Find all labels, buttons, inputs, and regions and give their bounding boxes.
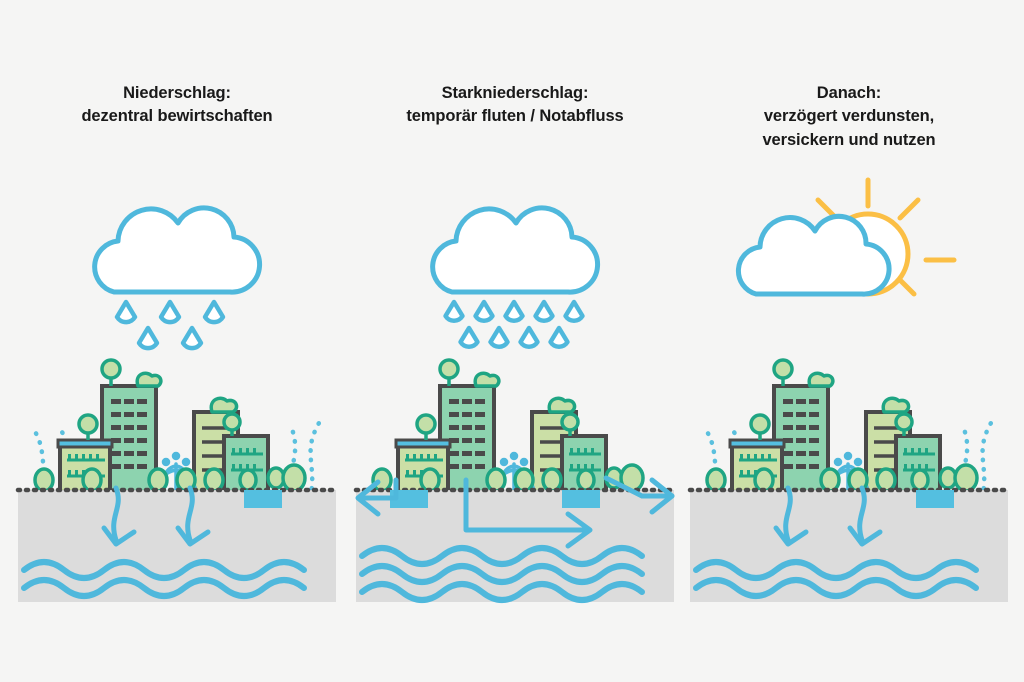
panel-heading: Starkniederschlag: temporär fluten / Not… [356, 82, 674, 129]
raindrop-icon [446, 302, 583, 347]
rain-cloud-icon [95, 208, 260, 292]
weather-illustration-sun-cloud [690, 170, 1008, 350]
subsurface-illustration [18, 486, 336, 602]
rooftop-tree-icon [751, 415, 769, 440]
weather-illustration-heavy-rain [356, 170, 674, 350]
rooftop-tree-icon [440, 360, 499, 386]
rooftop-tree-icon [79, 415, 97, 440]
raindrop-icon [117, 302, 223, 348]
rooftop-tree-icon [774, 360, 833, 386]
panel-niederschlag: Niederschlag: dezentral bewirtschaften [18, 0, 336, 682]
rooftop-tree-icon [417, 415, 435, 440]
weather-illustration-rain [18, 170, 336, 350]
panel-heading-line: Starkniederschlag: [356, 82, 674, 105]
subsurface-illustration [690, 486, 1008, 602]
panel-heading-line: dezentral bewirtschaften [18, 105, 336, 128]
panel-danach: Danach: verzögert verdunsten, versickern… [690, 0, 1008, 682]
cityscape-illustration [18, 352, 336, 500]
infographic-canvas: Niederschlag: dezentral bewirtschaften [0, 0, 1024, 682]
cistern-basin [244, 490, 282, 508]
panel-heading: Danach: verzögert verdunsten, versickern… [690, 82, 1008, 152]
soil-block [18, 490, 336, 602]
panel-heading-line: versickern und nutzen [690, 129, 1008, 152]
cityscape-illustration [690, 352, 1008, 500]
cistern-basin [562, 490, 600, 508]
panel-heading-line: verzögert verdunsten, [690, 105, 1008, 128]
rain-cloud-icon [433, 208, 598, 292]
panel-heading-line: Niederschlag: [18, 82, 336, 105]
panel-heading-line: Danach: [690, 82, 1008, 105]
panel-starkniederschlag: Starkniederschlag: temporär fluten / Not… [356, 0, 674, 682]
rooftop-tree-icon [102, 360, 161, 386]
panel-heading: Niederschlag: dezentral bewirtschaften [18, 82, 336, 129]
cityscape-illustration [356, 352, 674, 500]
cistern-basin [916, 490, 954, 508]
subsurface-illustration [356, 486, 674, 602]
soil-block [690, 490, 1008, 602]
panel-heading-line: temporär fluten / Notabfluss [356, 105, 674, 128]
